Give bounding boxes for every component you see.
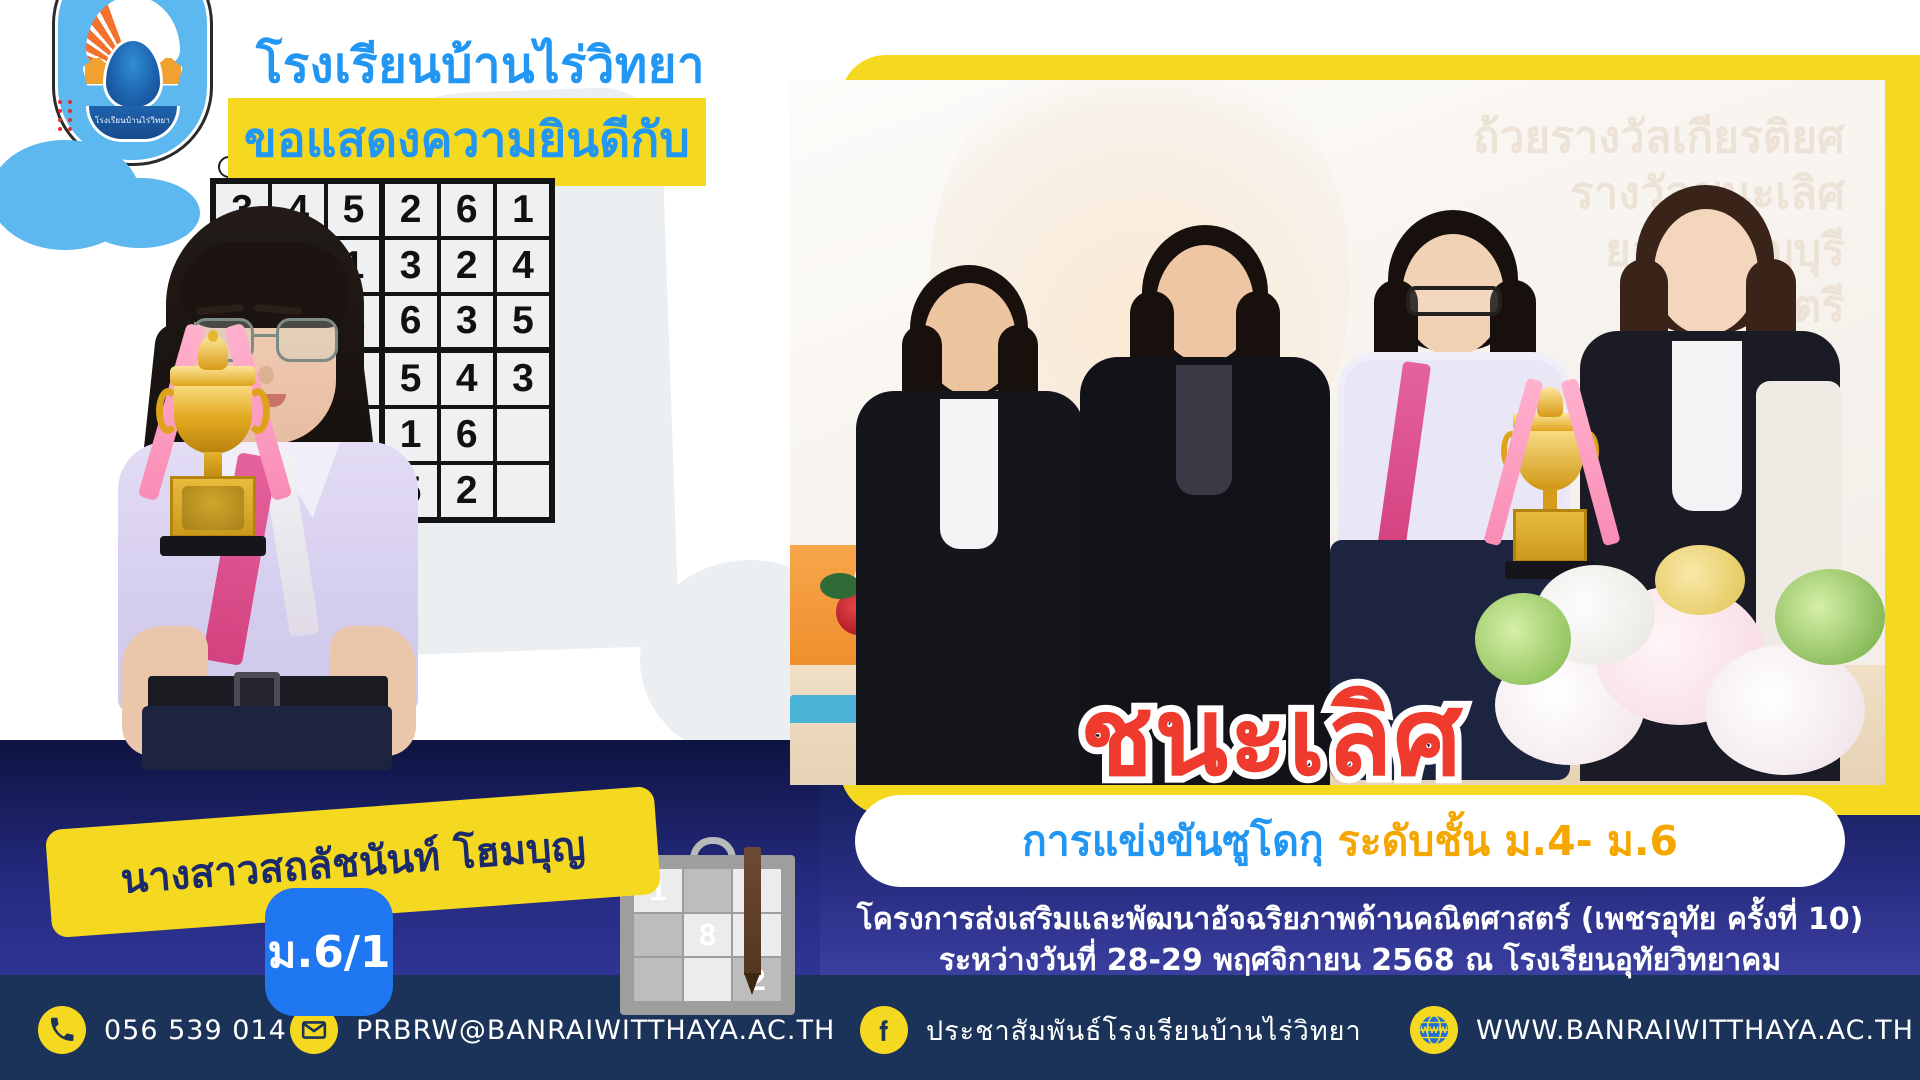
sudoku-icon-cell-7 [634,958,682,1001]
sudoku-icon-cell-8 [684,958,732,1001]
sudoku-cell-r5c5: 6 [439,407,495,463]
backdrop-line-1: ถ้วยรางวัลเกียรติยศ [1325,110,1845,166]
pencil-tip-icon [744,973,760,995]
project-line-1: โครงการส่งเสริมและพัฒนาอัจฉริยภาพด้านคณิ… [820,900,1900,941]
phone-icon [38,1006,86,1054]
sudoku-cell-r2c6: 4 [495,238,551,294]
flower-arrangement-right [1475,495,1885,785]
website-url: WWW.BANRAIWITTHAYA.AC.TH [1476,1015,1914,1046]
sudoku-cell-r6c5: 2 [439,463,495,519]
sudoku-cell-r2c5: 2 [439,238,495,294]
poster-canvas: ถ้วยรางวัลเกียรติยศ รางวัลชนะเลิศ ยอด ขา… [0,0,1920,1080]
student-glasses [1406,286,1502,316]
sudoku-cell-r4c6: 3 [495,351,551,407]
congratulations-text: ขอแสดงความยินดีกับ [244,112,690,168]
pencil-icon [744,847,761,975]
person-teacher-1 [850,265,1090,785]
globe-icon: WWW [1410,1006,1458,1054]
student-class-badge: ม.6/1 [265,888,393,1016]
sudoku-cell-r3c5: 3 [439,294,495,350]
competition-title-level: ระดับชั้น ม.4- ม.6 [1338,809,1678,874]
congratulations-banner: ขอแสดงความยินดีกับ [228,98,706,186]
phone-number: 056 539 014 [104,1015,287,1046]
student-trophy [148,330,278,560]
svg-text:WWW: WWW [1421,1025,1448,1036]
facebook-icon [860,1006,908,1054]
sudoku-cell-r5c6 [495,407,551,463]
sudoku-cell-r6c6 [495,463,551,519]
student-class: ม.6/1 [267,917,390,987]
page-title: โรงเรียนบ้านไร่วิทยา [256,26,705,104]
school-logo: โรงเรียนบ้านไร่วิทยา [55,0,210,163]
footer-website[interactable]: WWW WWW.BANRAIWITTHAYA.AC.TH [1410,1006,1914,1054]
project-description: โครงการส่งเสริมและพัฒนาอัจฉริยภาพด้านคณิ… [820,900,1900,981]
sudoku-cell-r4c5: 4 [439,351,495,407]
competition-title-pill: การแข่งขันซูโดกุ ระดับชั้น ม.4- ม.6 [855,795,1845,887]
email-address: PRBRW@BANRAIWITTHAYA.AC.TH [356,1015,835,1046]
project-line-2: ระหว่างวันที่ 28-29 พฤศจิกายน 2568 ณ โรง… [820,941,1900,982]
school-crest-icon: โรงเรียนบ้านไร่วิทยา [81,0,185,142]
decor-dots-left-2 [68,100,72,136]
sudoku-cell-r1c5: 6 [439,182,495,238]
facebook-page-name: ประชาสัมพันธ์โรงเรียนบ้านไร่วิทยา [926,1009,1362,1052]
competition-title-main: การแข่งขันซูโดกุ [1022,809,1324,874]
sudoku-icon-cell-5: 8 [684,914,732,957]
sudoku-cell-r3c6: 5 [495,294,551,350]
sudoku-cell-r1c6: 1 [495,182,551,238]
decor-dots-left [58,100,62,136]
sudoku-icon-cell-4 [634,914,682,957]
sudoku-icon-cell-2 [684,869,732,912]
footer-phone[interactable]: 056 539 014 [38,1006,287,1054]
footer-facebook[interactable]: ประชาสัมพันธ์โรงเรียนบ้านไร่วิทยา [860,1006,1362,1054]
crest-ribbon: โรงเรียนบ้านไร่วิทยา [86,106,180,142]
